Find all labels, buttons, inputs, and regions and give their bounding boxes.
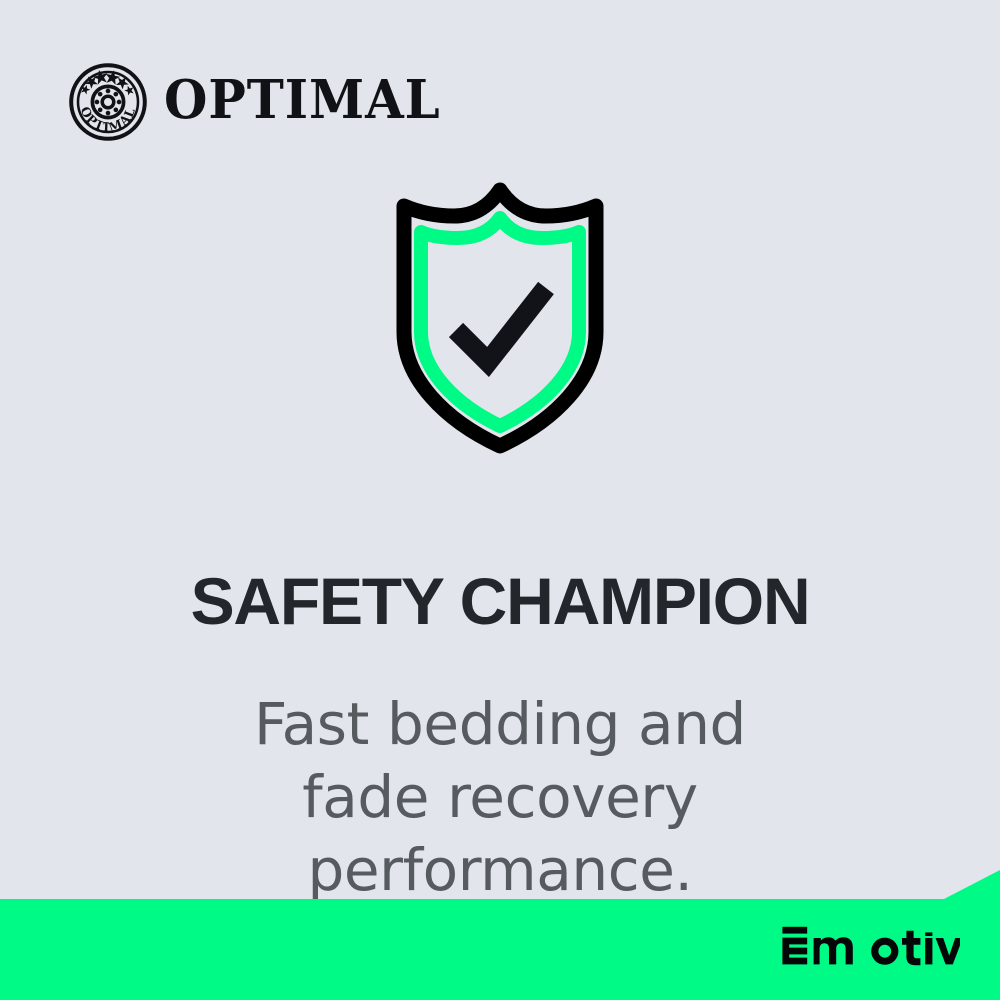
subtitle-line-2: fade recovery [170, 761, 830, 834]
shield-accent-outline [421, 218, 579, 426]
optimal-badge-emblem-icon: OPTIMAL [68, 62, 148, 142]
page-title: SAFETY CHAMPION [0, 568, 1000, 634]
check-mark-icon [456, 288, 546, 362]
brand-wordmark: OPTIMAL [164, 74, 441, 130]
hero-icon-container [0, 182, 1000, 454]
safety-champion-promo-card: OPTIMAL OPTIMAL [0, 0, 1000, 1000]
brand-header: OPTIMAL OPTIMAL [68, 62, 458, 142]
shield-check-icon [388, 182, 612, 454]
emotive-wordmark-logo [780, 926, 960, 966]
emblem-hub-bolts [95, 89, 122, 116]
subtitle-line-3: performance. [170, 834, 830, 907]
subtitle-line-1: Fast bedding and [170, 688, 830, 761]
subtitle-text: Fast bedding and fade recovery performan… [170, 688, 830, 907]
